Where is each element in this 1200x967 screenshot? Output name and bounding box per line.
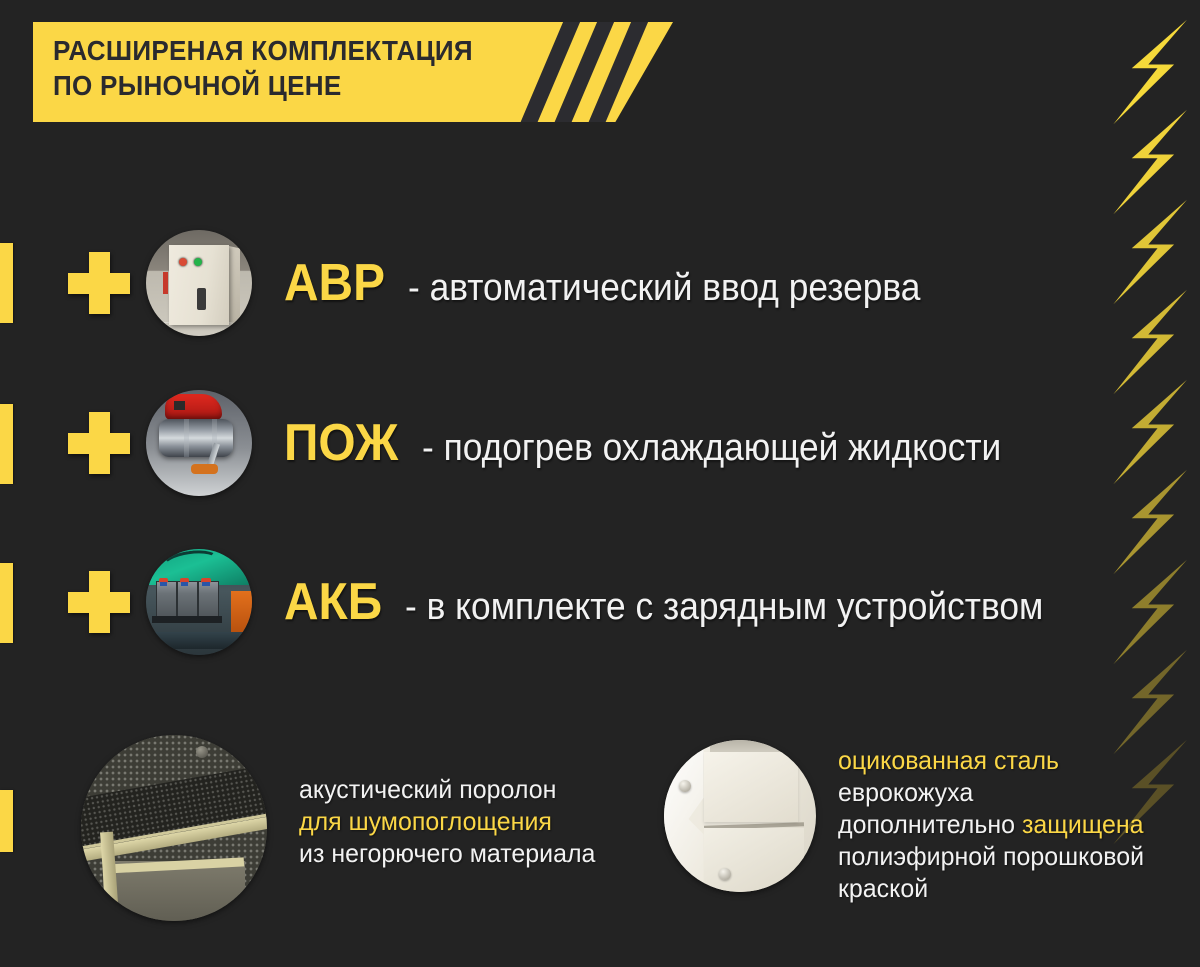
caption-text-highlight: защищена — [1022, 809, 1144, 839]
slide-root: РАСШИРЕНАЯ КОМПЛЕКТАЦИЯ ПО РЫНОЧНОЙ ЦЕНЕ — [0, 0, 1200, 967]
feature-description: - автоматический ввод резерва — [408, 267, 920, 309]
caption-line: полиэфирной порошковой — [838, 840, 1144, 872]
feature-description: - в комплекте с зарядным устройством — [405, 586, 1043, 628]
banner-stripes-decoration — [523, 22, 653, 122]
plus-icon — [68, 252, 130, 314]
feature-abbr: АКБ — [284, 576, 382, 628]
feature-description: - подогрев охлаждающей жидкости — [422, 427, 1001, 469]
acoustic-foam-caption: акустический поролон для шумопоглощения … — [299, 773, 595, 869]
caption-line: еврокожуха — [838, 776, 1144, 808]
bottom-block-acoustic-foam: акустический поролон для шумопоглощения … — [65, 735, 608, 921]
feature-label-akb: АКБ - в комплекте с зарядным устройством — [284, 576, 1091, 628]
feature-row-avr: АВР - автоматический ввод резерва — [0, 228, 959, 338]
caption-line: акустический поролон — [299, 773, 595, 805]
control-cabinet-photo — [146, 230, 252, 336]
header-banner: РАСШИРЕНАЯ КОМПЛЕКТАЦИЯ ПО РЫНОЧНОЙ ЦЕНЕ — [33, 22, 673, 122]
feature-row-pozh: ПОЖ - подогрев охлаждающей жидкости — [0, 388, 1045, 498]
caption-text: дополнительно — [838, 809, 1022, 839]
caption-line: из негорючего материала — [299, 837, 595, 869]
plus-icon — [68, 412, 130, 474]
page-title: РАСШИРЕНАЯ КОМПЛЕКТАЦИЯ ПО РЫНОЧНОЙ ЦЕНЕ — [53, 33, 473, 103]
batteries-photo — [146, 549, 252, 655]
plus-icon — [68, 571, 130, 633]
engine-preheater-photo — [146, 390, 252, 496]
caption-line: краской — [838, 872, 1144, 904]
galvanized-steel-enclosure-photo — [664, 740, 816, 892]
feature-label-avr: АВР - автоматический ввод резерва — [284, 257, 959, 309]
caption-line-highlight: для шумопоглощения — [299, 805, 595, 837]
feature-abbr: ПОЖ — [284, 417, 398, 469]
steel-enclosure-caption: оцикованная сталь еврокожуха дополнитель… — [838, 744, 1144, 904]
bottom-block-steel-enclosure: оцикованная сталь еврокожуха дополнитель… — [648, 740, 1157, 904]
left-accent-tab-4 — [0, 790, 13, 852]
caption-line-mixed: дополнительно защищена — [838, 808, 1144, 840]
feature-abbr: АВР — [284, 257, 385, 309]
feature-row-akb: АКБ - в комплекте с зарядным устройством — [0, 547, 1091, 657]
caption-line-highlight: оцикованная сталь — [838, 744, 1144, 776]
acoustic-foam-photo — [81, 735, 267, 921]
feature-label-pozh: ПОЖ - подогрев охлаждающей жидкости — [284, 417, 1045, 469]
